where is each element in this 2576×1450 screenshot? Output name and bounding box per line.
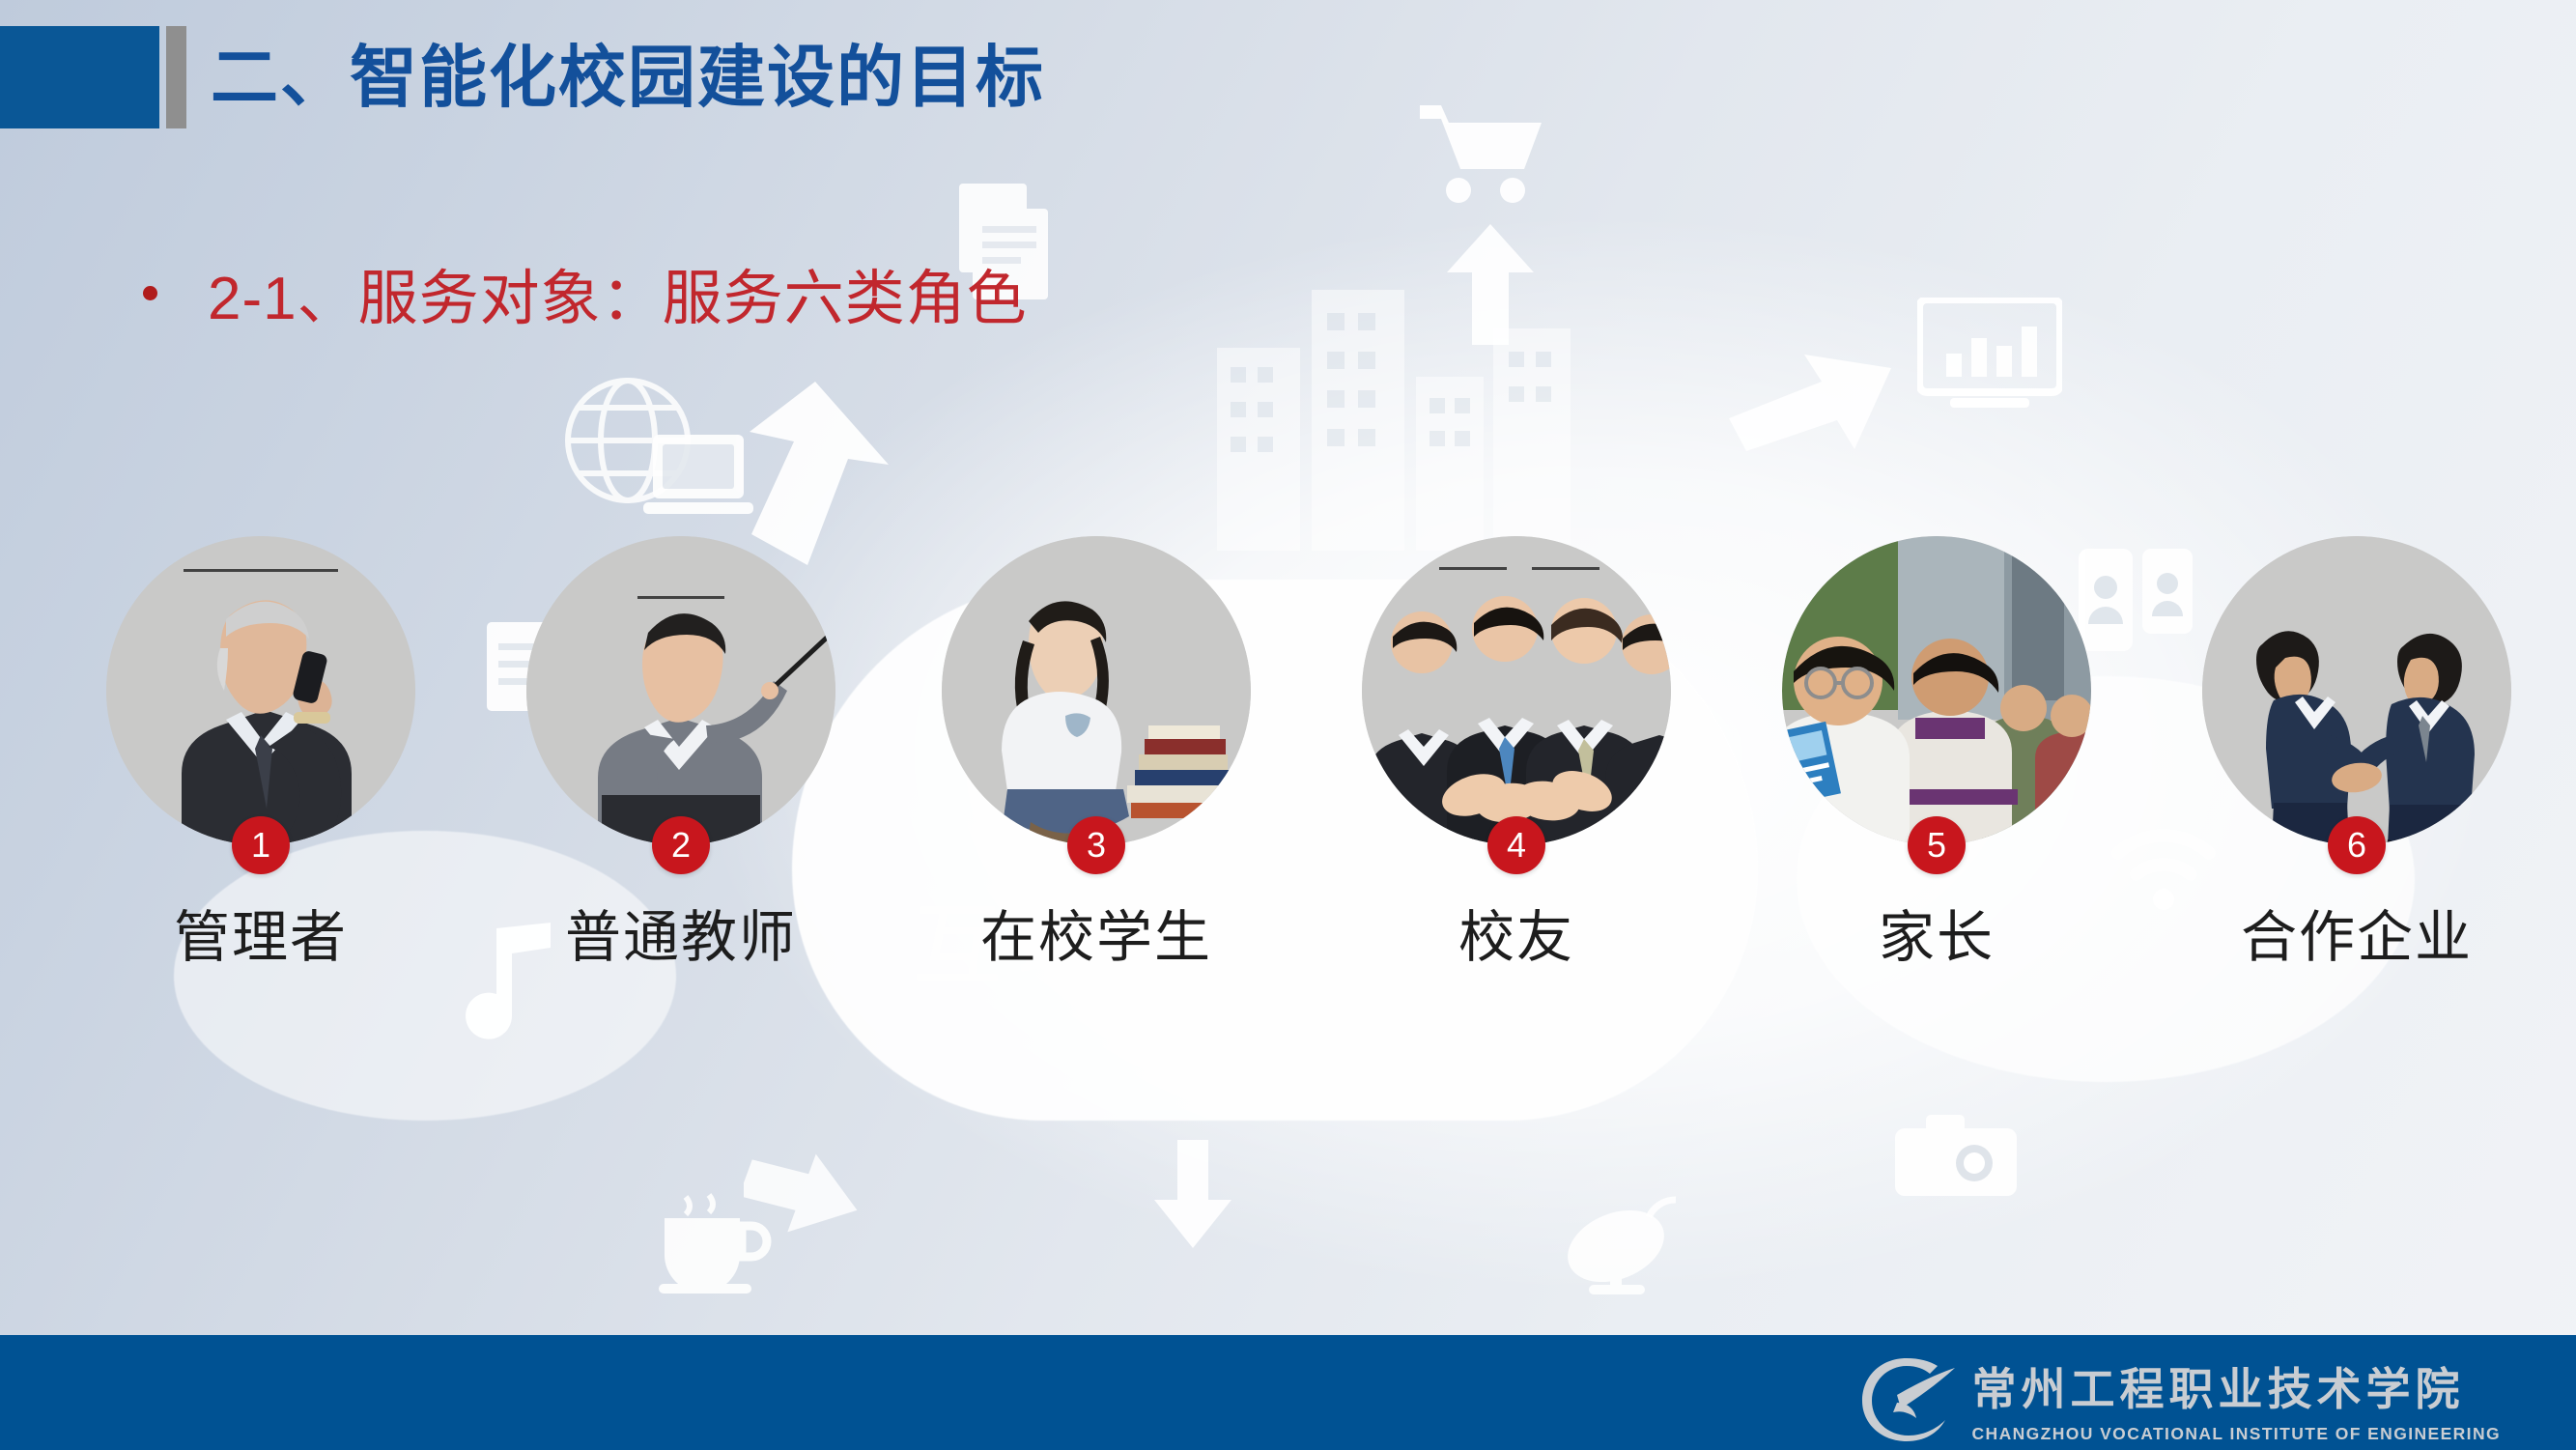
role-photo-circle [2202, 536, 2511, 845]
institution-logo: 常州工程职业技术学院 CHANGZHOU VOCATIONAL INSTITUT… [1854, 1352, 2502, 1445]
circle-top-line [1439, 567, 1507, 570]
alumni-team-photo [1362, 536, 1671, 845]
circle-top-line [1532, 567, 1599, 570]
footer-bar: 常州工程职业技术学院 CHANGZHOU VOCATIONAL INSTITUT… [0, 1335, 2576, 1450]
role-item[interactable]: 5 家长 [1782, 536, 2091, 845]
role-photo-circle [942, 536, 1251, 845]
role-label: 校友 [1314, 892, 1719, 973]
role-label: 在校学生 [893, 892, 1299, 973]
student-with-books-photo [942, 536, 1251, 845]
logo-name-cn: 常州工程职业技术学院 [1972, 1354, 2502, 1418]
role-label: 普通教师 [478, 892, 884, 973]
slide-canvas: 互联网 + [0, 0, 2576, 1450]
circle-top-line [637, 596, 724, 599]
role-number-badge: 5 [1908, 816, 1966, 874]
role-item[interactable]: 2 普通教师 [526, 536, 835, 845]
role-label: 家长 [1734, 892, 2139, 973]
role-number-badge: 2 [652, 816, 710, 874]
role-photo-circle [1362, 536, 1671, 845]
role-photo-circle [1782, 536, 2091, 845]
role-item[interactable]: 6 合作企业 [2202, 536, 2511, 845]
manager-on-phone-photo [106, 536, 415, 845]
role-number-badge: 4 [1487, 816, 1545, 874]
role-item[interactable]: 4 校友 [1362, 536, 1671, 845]
parents-crowd-photo [1782, 536, 2091, 845]
teacher-pointer-photo [526, 536, 835, 845]
role-photo-circle [106, 536, 415, 845]
role-number-badge: 6 [2328, 816, 2386, 874]
logo-name-en: CHANGZHOU VOCATIONAL INSTITUTE OF ENGINE… [1972, 1424, 2502, 1444]
role-label: 合作企业 [2154, 892, 2560, 973]
role-number-badge: 3 [1067, 816, 1125, 874]
role-number-badge: 1 [232, 816, 290, 874]
circle-top-line [184, 569, 338, 572]
role-item[interactable]: 3 在校学生 [942, 536, 1251, 845]
logo-mark-icon [1854, 1352, 1959, 1445]
role-photo-circle [526, 536, 835, 845]
role-list: 1 管理者 [0, 0, 2576, 1450]
handshake-partners-photo [2202, 536, 2511, 845]
logo-text-group: 常州工程职业技术学院 CHANGZHOU VOCATIONAL INSTITUT… [1972, 1354, 2502, 1444]
role-item[interactable]: 1 管理者 [106, 536, 415, 845]
role-label: 管理者 [58, 892, 464, 973]
